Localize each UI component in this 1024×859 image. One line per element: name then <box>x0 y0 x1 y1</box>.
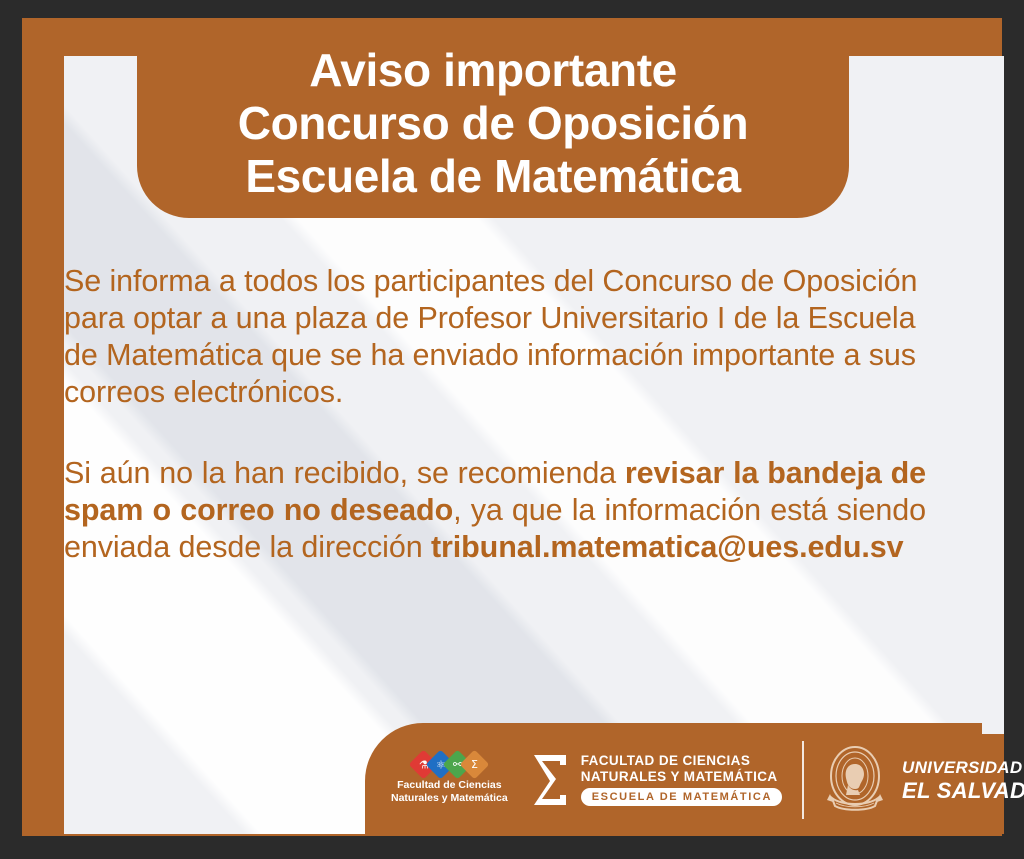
sigma-outline-icon <box>530 753 570 807</box>
sigma-math-icon: Σ <box>460 750 490 780</box>
body-paragraph-1: Se informa a todos los participantes del… <box>64 263 926 411</box>
title-line-3: Escuela de Matemática <box>137 150 849 203</box>
facultad-caption-line-2: Naturales y Matemática <box>391 792 508 805</box>
footer-divider <box>802 741 804 819</box>
escuela-logo-badge: ESCUELA DE MATEMÁTICA <box>581 788 782 806</box>
facultad-caption-line-1: Facultad de Ciencias <box>397 779 501 792</box>
title-line-1: Aviso importante <box>137 44 849 97</box>
announcement-body: Se informa a todos los participantes del… <box>64 263 926 566</box>
escuela-matematica-logo: FACULTAD DE CIENCIAS NATURALES Y MATEMÁT… <box>530 753 782 807</box>
poster-root: Aviso importante Concurso de Oposición E… <box>0 0 1024 859</box>
escuela-logo-text: FACULTAD DE CIENCIAS NATURALES Y MATEMÁT… <box>581 753 782 806</box>
title-banner: Aviso importante Concurso de Oposición E… <box>137 18 849 218</box>
footer-logo-band: ⚗ ⚛ ⚯ Σ Facultad de Ciencias Naturales y… <box>365 723 982 836</box>
sigma-math-glyph: Σ <box>471 759 478 770</box>
paragraph2-email-address: tribunal.matematica@ues.edu.sv <box>431 530 904 564</box>
universidad-el-salvador-logo: UNIVERSIDAD DE EL SALVADOR <box>824 744 1024 816</box>
title-line-2: Concurso de Oposición <box>137 97 849 150</box>
ues-wordmark-line-1: UNIVERSIDAD DE <box>902 757 1024 778</box>
ues-wordmark: UNIVERSIDAD DE EL SALVADOR <box>902 757 1024 803</box>
brown-frame: Aviso importante Concurso de Oposición E… <box>22 18 1002 836</box>
ues-seal-icon <box>824 744 886 816</box>
paragraph2-text-start: Si aún no la han recibido, se recomienda <box>64 456 625 490</box>
body-paragraph-2: Si aún no la han recibido, se recomienda… <box>64 455 926 566</box>
diamond-icon-row: ⚗ ⚛ ⚯ Σ <box>415 754 483 775</box>
escuela-logo-line-1: FACULTAD DE CIENCIAS <box>581 753 782 769</box>
ues-wordmark-line-2: EL SALVADOR <box>902 778 1024 803</box>
escuela-logo-line-2: NATURALES Y MATEMÁTICA <box>581 769 782 785</box>
facultad-ciencias-logo: ⚗ ⚛ ⚯ Σ Facultad de Ciencias Naturales y… <box>391 754 508 805</box>
